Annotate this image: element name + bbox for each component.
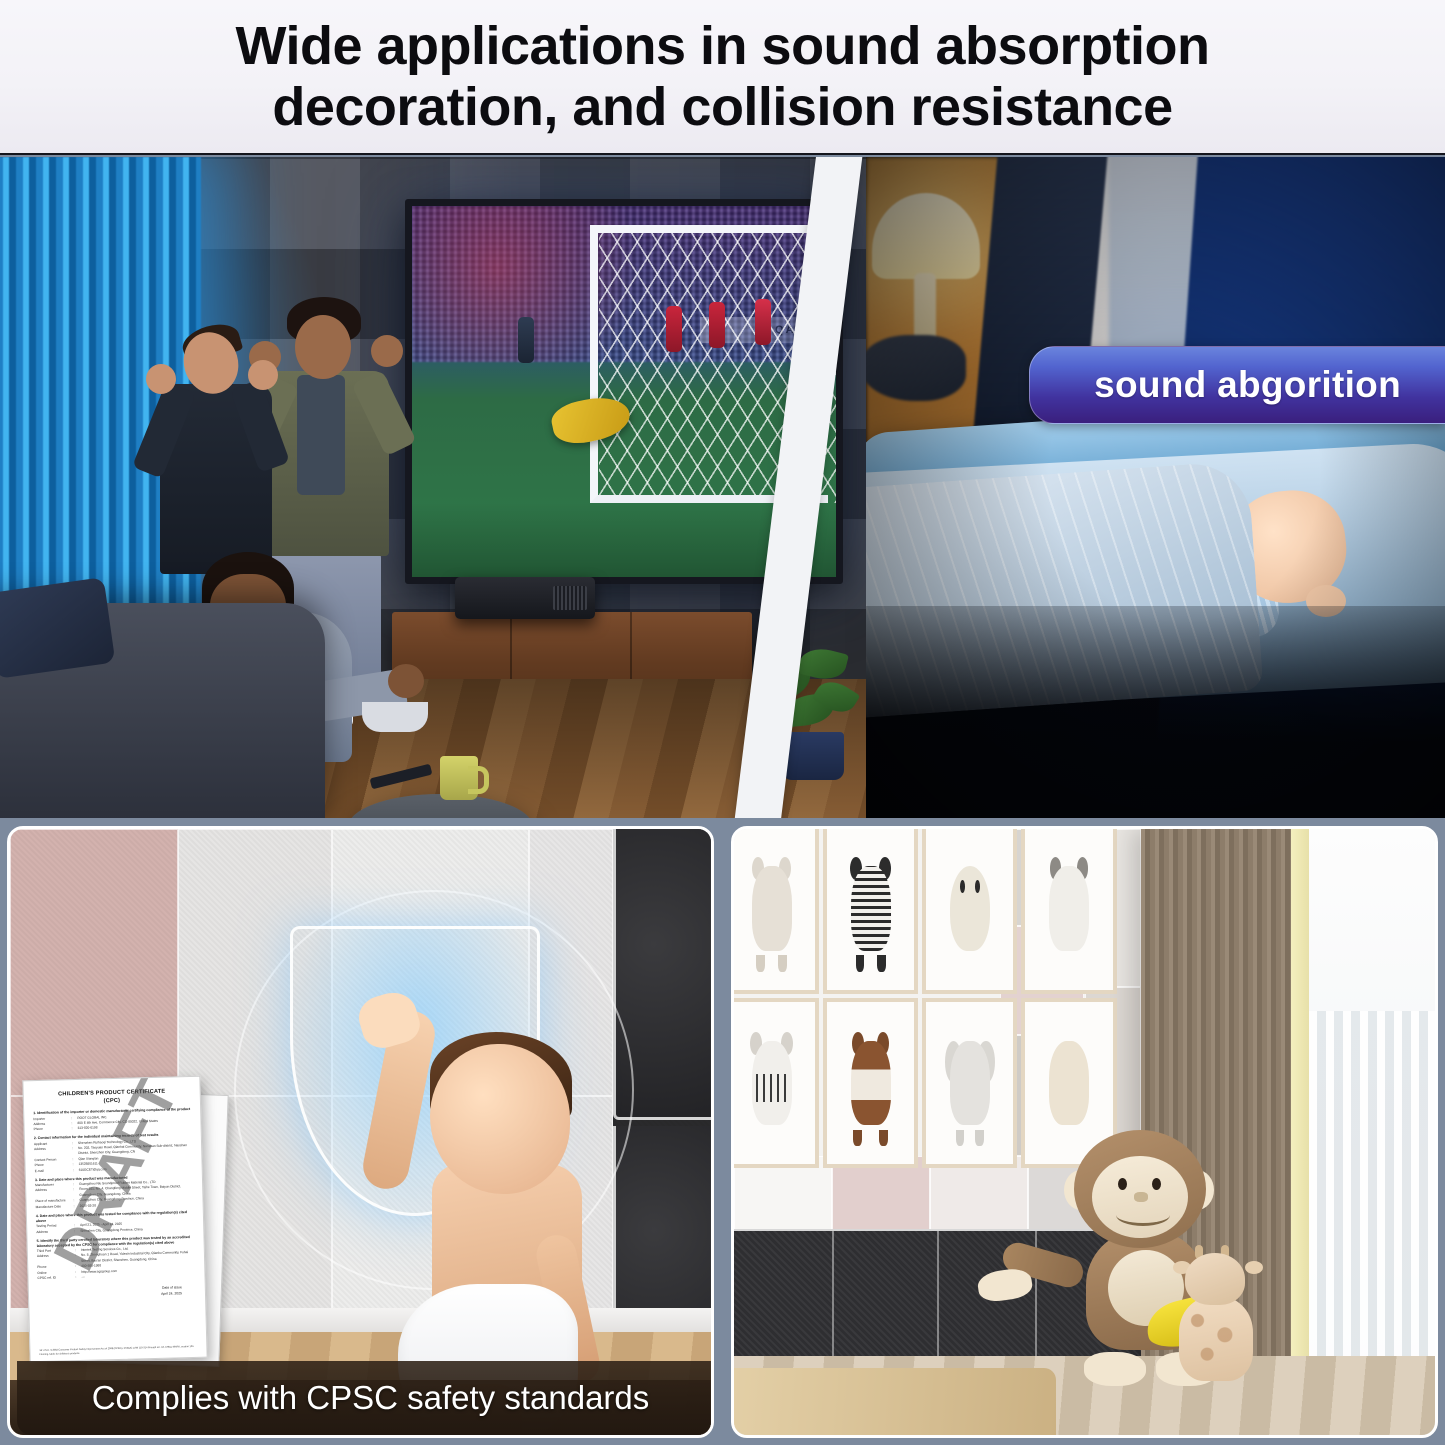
header-banner: Wide applications in sound absorption de… bbox=[0, 0, 1445, 155]
poster-frame bbox=[922, 998, 1017, 1169]
panda-poster-icon bbox=[1042, 850, 1096, 967]
coffee-mug bbox=[440, 756, 478, 800]
panel-collision-proof: CHILDREN'S PRODUCT CERTIFICATE (CPC) 1. … bbox=[7, 826, 714, 1438]
panel-ornament bbox=[731, 826, 1438, 1438]
tv-player bbox=[755, 299, 771, 345]
poster-frame bbox=[731, 998, 819, 1169]
poster-frame bbox=[922, 826, 1017, 994]
toddler bbox=[280, 984, 610, 1404]
cpsc-compliance-text: Complies with CPSC safety standards bbox=[92, 1379, 650, 1417]
bear-poster-icon bbox=[844, 1024, 898, 1141]
page-title-line2: decoration, and collision resistance bbox=[235, 77, 1209, 137]
bottom-panel-row: CHILDREN'S PRODUCT CERTIFICATE (CPC) 1. … bbox=[0, 826, 1445, 1445]
rabbit-poster-icon bbox=[745, 850, 799, 967]
tv-player bbox=[666, 306, 682, 352]
sheer-curtain bbox=[1309, 829, 1435, 1435]
poster-frame bbox=[823, 998, 918, 1169]
owl-poster-icon bbox=[943, 850, 997, 967]
sofa-pillow bbox=[0, 577, 115, 679]
page-title-line1: Wide applications in sound absorption bbox=[235, 16, 1209, 76]
gray-sofa bbox=[0, 603, 325, 818]
poster-frame bbox=[823, 826, 918, 994]
toddler-head bbox=[430, 1044, 570, 1194]
poster-grid bbox=[731, 826, 1117, 1168]
tv-player bbox=[518, 317, 534, 363]
badge-sound-absorption[interactable]: sound abgorition bbox=[1029, 346, 1445, 424]
cpsc-compliance-caption: Complies with CPSC safety standards bbox=[17, 1361, 714, 1435]
poster-frame bbox=[731, 826, 819, 994]
panel-living-room: QATAR bbox=[0, 157, 866, 818]
giraffe-plush bbox=[1169, 1253, 1269, 1393]
floor-rug bbox=[734, 1368, 1056, 1435]
top-panel-row: QATAR bbox=[0, 157, 1445, 818]
certificate-footnote: 16 U.S.C. § 2063 Consumer Product Safety… bbox=[39, 1345, 197, 1357]
popcorn-bowl bbox=[362, 702, 428, 732]
laser-projector bbox=[455, 577, 595, 619]
certificate-issue-block: Date of issue April 24, 2025 bbox=[38, 1284, 196, 1300]
badge-sound-absorption-label: sound abgorition bbox=[1094, 364, 1401, 406]
page-title: Wide applications in sound absorption de… bbox=[235, 16, 1209, 137]
giraffe-poster-icon bbox=[1042, 1024, 1096, 1141]
plant-pot bbox=[782, 732, 844, 780]
raccoon-poster-icon bbox=[844, 850, 898, 967]
certificate-front-page: CHILDREN'S PRODUCT CERTIFICATE (CPC) 1. … bbox=[22, 1076, 207, 1363]
tv-player bbox=[709, 302, 725, 348]
cpc-certificate: CHILDREN'S PRODUCT CERTIFICATE (CPC) 1. … bbox=[26, 1078, 216, 1368]
fox-poster-icon bbox=[745, 1024, 799, 1141]
panel-sleeping-baby bbox=[866, 157, 1445, 818]
vignette bbox=[866, 157, 1445, 818]
poster-frame bbox=[1021, 826, 1116, 994]
elephant-poster-icon bbox=[943, 1024, 997, 1141]
